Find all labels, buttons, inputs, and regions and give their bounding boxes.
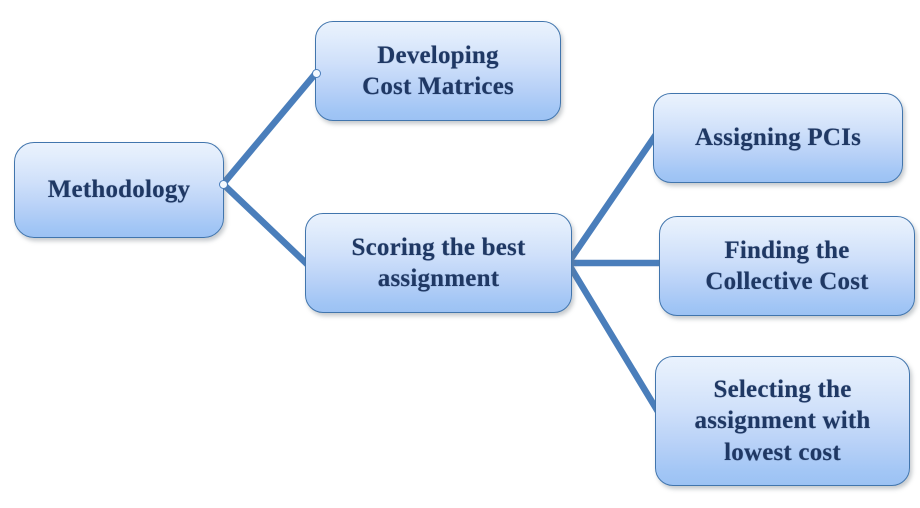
node-selecting-assignment-with-lowest-cost[interactable]: Selecting the assignment with lowest cos… (655, 356, 910, 486)
node-developing-cost-matrices[interactable]: Developing Cost Matrices (315, 21, 561, 121)
edge-scoring-to-selecting (568, 263, 660, 415)
edge-scoring-to-assigning (568, 133, 657, 263)
joint-methodology-right[interactable] (219, 180, 228, 189)
node-scoring-the-best-assignment[interactable]: Scoring the best assignment (305, 213, 572, 313)
node-selecting-assignment-with-lowest-cost-label: Selecting the assignment with lowest cos… (664, 374, 901, 469)
edge-methodology-to-developing (223, 73, 316, 184)
node-methodology[interactable]: Methodology (14, 142, 224, 238)
node-assigning-pcis-label: Assigning PCIs (662, 122, 894, 154)
node-finding-the-collective-cost-label: Finding the Collective Cost (668, 235, 906, 298)
node-assigning-pcis[interactable]: Assigning PCIs (653, 93, 903, 183)
diagram-canvas: Methodology Developing Cost Matrices Sco… (0, 0, 920, 508)
edge-methodology-to-scoring (223, 184, 308, 265)
node-methodology-label: Methodology (23, 174, 215, 206)
node-scoring-the-best-assignment-label: Scoring the best assignment (314, 232, 563, 295)
node-developing-cost-matrices-label: Developing Cost Matrices (324, 40, 552, 103)
node-finding-the-collective-cost[interactable]: Finding the Collective Cost (659, 216, 915, 316)
joint-developing-left[interactable] (312, 69, 321, 78)
